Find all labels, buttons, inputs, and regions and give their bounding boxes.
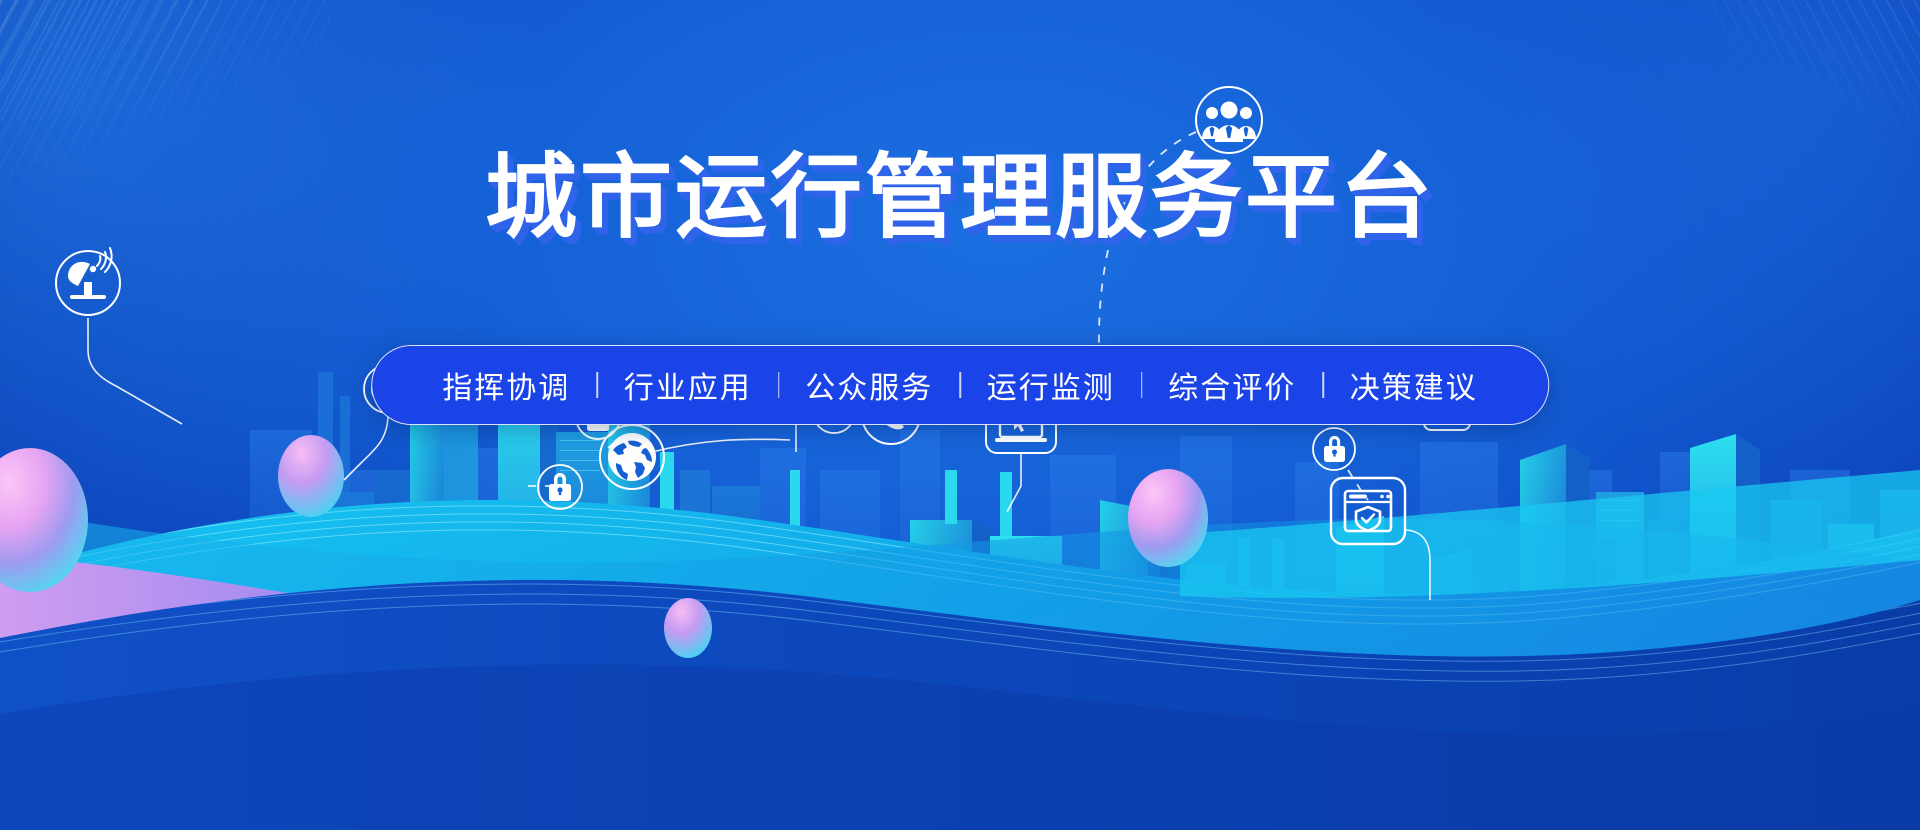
hero-banner: 城市运行管理服务平台 指挥协调行业应用公众服务运行监测综合评价决策建议 — [0, 0, 1920, 830]
satellite-dish-icon — [56, 248, 120, 315]
nav-item-3[interactable]: 公众服务 — [779, 363, 959, 407]
people-group-icon — [1196, 87, 1262, 153]
nav-item-2[interactable]: 行业应用 — [598, 363, 778, 407]
lock-icon-2 — [538, 465, 582, 509]
lock-icon-4 — [1313, 428, 1355, 470]
nav-item-4[interactable]: 运行监测 — [961, 363, 1141, 407]
nav-item-5[interactable]: 综合评价 — [1142, 363, 1322, 407]
main-nav[interactable]: 指挥协调行业应用公众服务运行监测综合评价决策建议 — [371, 345, 1549, 425]
nav-item-1[interactable]: 指挥协调 — [416, 363, 596, 407]
shield-browser-icon — [1331, 478, 1405, 544]
globe-icon — [600, 425, 664, 489]
nav-item-6[interactable]: 决策建议 — [1324, 363, 1504, 407]
